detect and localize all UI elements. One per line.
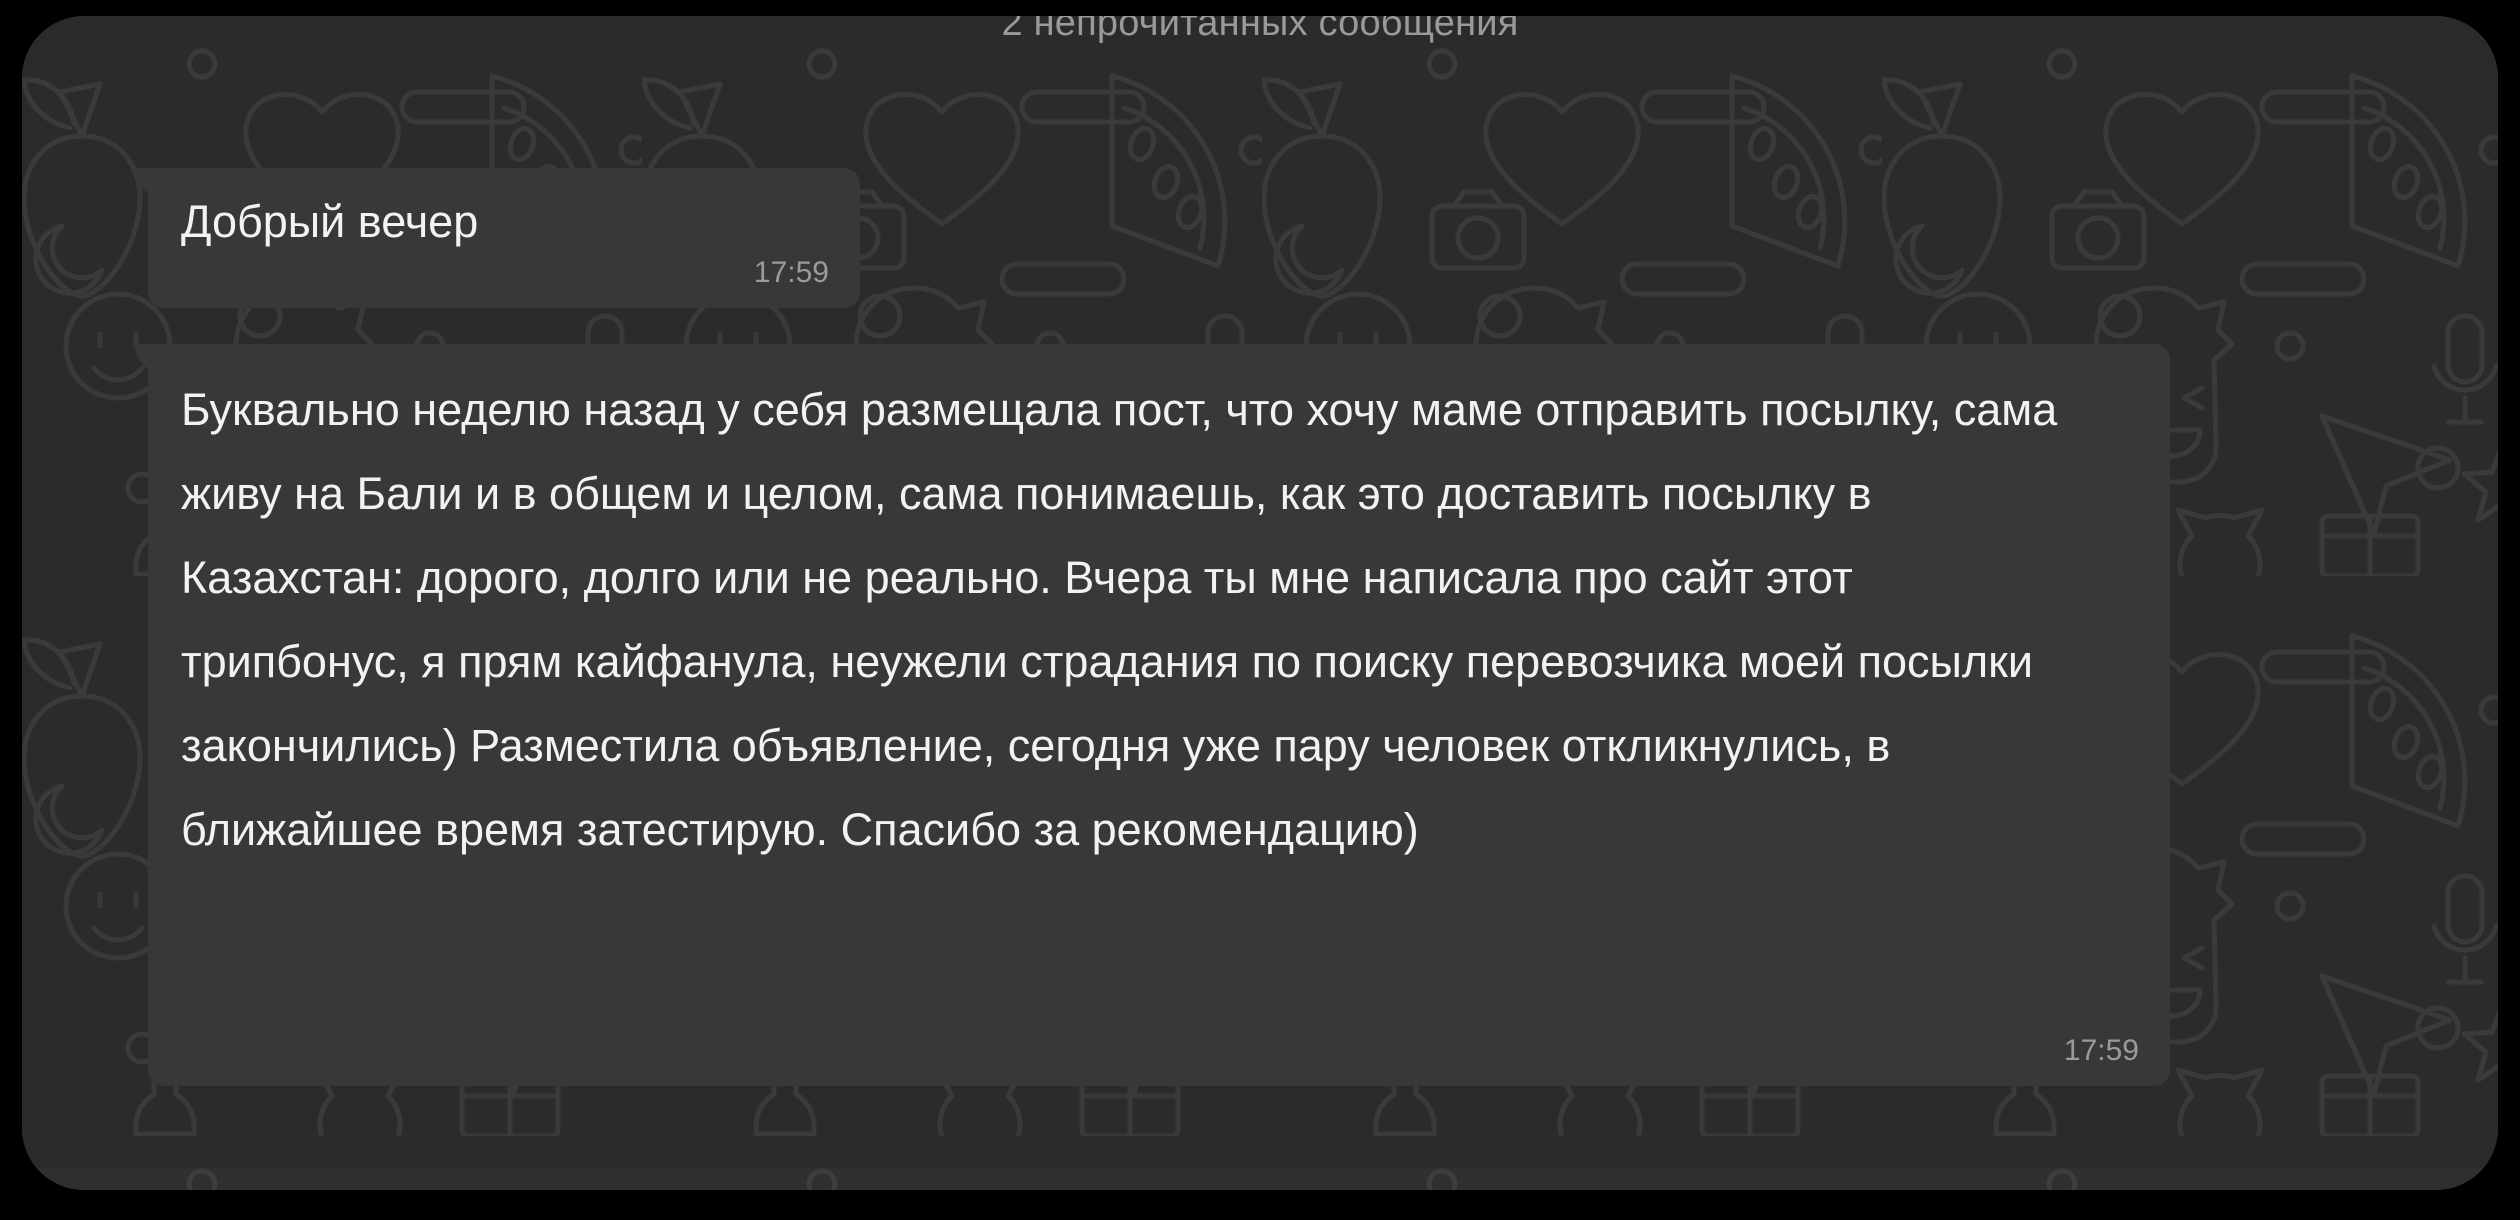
message-text: Буквально неделю назад у себя размещала … xyxy=(181,368,2081,872)
bubble-tail-icon xyxy=(134,344,150,370)
input-bar-edge xyxy=(22,1168,2498,1190)
device-frame: 2 непрочитанных сообщения Добрый вечер 1… xyxy=(0,0,2520,1220)
message-bubble-incoming[interactable]: Буквально неделю назад у себя размещала … xyxy=(148,344,2170,1086)
bubble-tail-icon xyxy=(134,168,150,194)
message-timestamp: 17:59 xyxy=(2064,1034,2139,1068)
message-timestamp: 17:59 xyxy=(754,256,829,290)
message-text: Добрый вечер xyxy=(181,196,478,248)
message-bubble-incoming[interactable]: Добрый вечер 17:59 xyxy=(148,168,860,308)
chat-screen: 2 непрочитанных сообщения Добрый вечер 1… xyxy=(22,16,2498,1190)
